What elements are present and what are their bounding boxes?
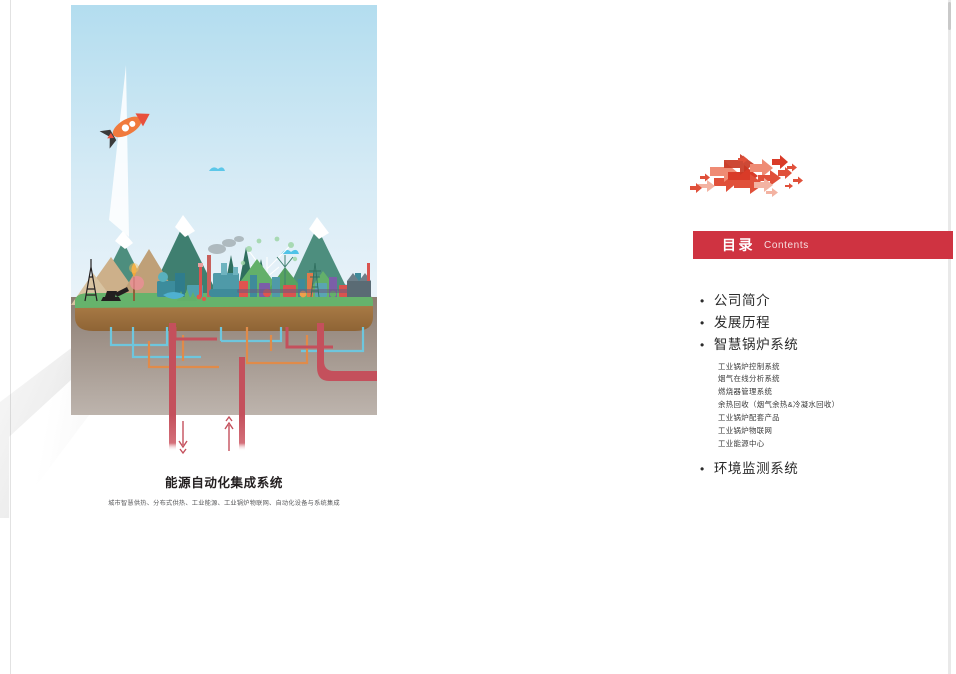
energy-city-illustration-icon bbox=[71, 5, 377, 415]
pdf-page-viewer[interactable]: 能源自动化集成系统 城市智慧供热、分布式供热、工业能源、工业锅炉物联网、自动化设… bbox=[0, 0, 956, 674]
toc-item-label: 公司简介 bbox=[714, 290, 770, 312]
table-of-contents: • 公司简介 • 发展历程 • 智慧锅炉系统 工业锅炉控制系统 烟气在线分析系统… bbox=[700, 290, 955, 480]
toc-subitem[interactable]: 余热回收（烟气余热&冷凝水回收） bbox=[718, 399, 955, 412]
vertical-scrollbar-thumb[interactable] bbox=[948, 2, 951, 30]
cover-title: 能源自动化集成系统 bbox=[71, 472, 377, 491]
toc-sublist-smart-boiler-system: 工业锅炉控制系统 烟气在线分析系统 燃烧器管理系统 余热回收（烟气余热&冷凝水回… bbox=[718, 361, 955, 451]
red-arrows-cluster-logo-icon bbox=[688, 148, 813, 204]
toc-subitem[interactable]: 工业锅炉物联网 bbox=[718, 425, 955, 438]
toc-item-label: 智慧锅炉系统 bbox=[714, 334, 799, 356]
toc-item-label: 环境监测系统 bbox=[714, 458, 799, 480]
bullet-icon: • bbox=[700, 317, 705, 329]
contents-title-en: Contents bbox=[764, 240, 809, 251]
contents-title-cn: 目录 bbox=[722, 235, 755, 255]
page-edge-line bbox=[10, 0, 11, 674]
contents-banner: 目录 Contents bbox=[693, 231, 953, 259]
toc-item-environmental-monitoring-system[interactable]: • 环境监测系统 bbox=[700, 458, 955, 480]
toc-subitem[interactable]: 工业锅炉配套产品 bbox=[718, 412, 955, 425]
bullet-icon: • bbox=[700, 295, 705, 307]
toc-item-smart-boiler-system[interactable]: • 智慧锅炉系统 bbox=[700, 334, 955, 356]
cover-subtitle: 城市智慧供热、分布式供热、工业能源、工业锅炉物联网、自动化设备与系统集成 bbox=[61, 498, 387, 507]
toc-item-label: 发展历程 bbox=[714, 312, 770, 334]
toc-subitem[interactable]: 烟气在线分析系统 bbox=[718, 373, 955, 386]
toc-subitem[interactable]: 工业能源中心 bbox=[718, 438, 955, 451]
toc-item-development-history[interactable]: • 发展历程 bbox=[700, 312, 955, 334]
toc-subitem[interactable]: 工业锅炉控制系统 bbox=[718, 361, 955, 374]
bullet-icon: • bbox=[700, 339, 705, 351]
toc-subitem[interactable]: 燃烧器管理系统 bbox=[718, 386, 955, 399]
toc-item-company-intro[interactable]: • 公司简介 bbox=[700, 290, 955, 312]
cover-illustration bbox=[71, 5, 377, 415]
bullet-icon: • bbox=[700, 463, 705, 475]
